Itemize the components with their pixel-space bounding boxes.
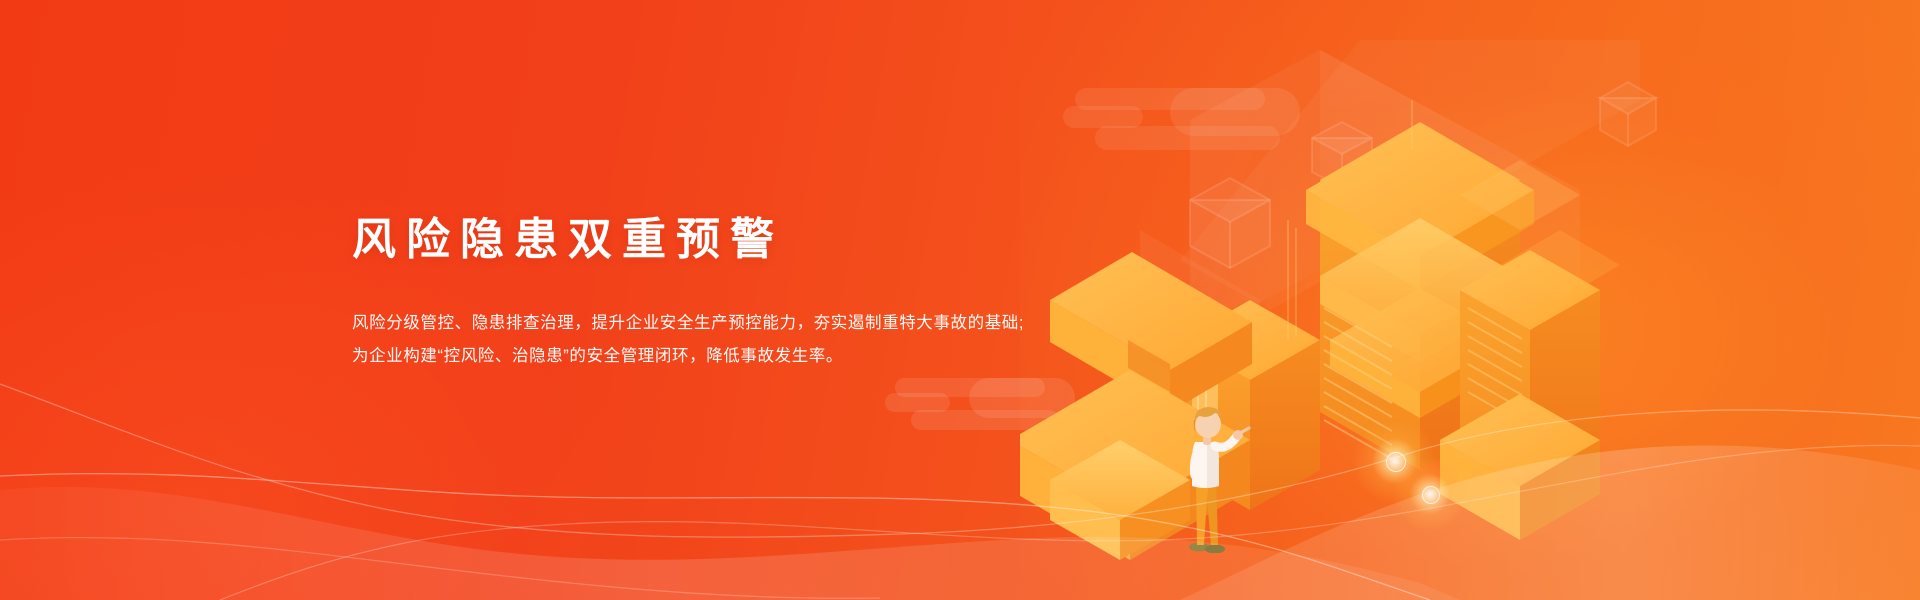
wave-line-2 (0, 384, 1920, 537)
hex-cube-decorations (1130, 90, 1460, 320)
wave-line-3 (220, 445, 1920, 600)
cloud-bar (911, 410, 1059, 430)
accent-lines (1288, 100, 1412, 340)
right-tower (1460, 250, 1600, 510)
floating-plates (1460, 160, 1620, 300)
hero-banner: 风险隐患双重预警 风险分级管控、隐患排查治理，提升企业安全生产预控能力，夯实遏制… (0, 0, 1920, 600)
shirt (1192, 442, 1219, 488)
wave-line-1 (0, 474, 1430, 600)
cloud-bar (1063, 106, 1143, 128)
subtitle-line-1: 风险分级管控、隐患排查治理，提升企业安全生产预控能力，夯实遏制重特大事故的基础; (352, 307, 1024, 340)
shoe-right (1205, 545, 1225, 554)
glow-spark-2 (1392, 456, 1468, 532)
cloud-motif-upper (1075, 88, 1300, 150)
cloud-motif-lower (895, 378, 1075, 430)
shelf-block (1050, 252, 1252, 412)
shoe-left (1189, 543, 1209, 552)
wave-fill-left (0, 487, 1460, 600)
finger (1240, 428, 1249, 433)
cloud-bar (1075, 88, 1265, 110)
right-diamond-block (1440, 394, 1600, 540)
glow-spark-1 (1352, 418, 1438, 504)
ghost-prisms (1140, 50, 1580, 480)
arm-left (1190, 448, 1200, 480)
lower-cube (1020, 370, 1250, 560)
head (1195, 410, 1221, 438)
neck (1203, 436, 1211, 445)
front-cube (1050, 440, 1190, 560)
glow-spark-ring-1 (1386, 452, 1406, 472)
cloud-bar (885, 393, 950, 412)
hair (1195, 407, 1222, 428)
cloud-bar (1170, 88, 1300, 136)
banner-text-block: 风险隐患双重预警 风险分级管控、隐患排查治理，提升企业安全生产预控能力，夯实遏制… (352, 214, 1024, 373)
cloud-bar (1095, 126, 1280, 150)
person-pointing-illustration (1182, 398, 1252, 553)
pants (1196, 482, 1218, 545)
background-glow-right (1020, 0, 1920, 600)
shirt-shade (1207, 442, 1219, 488)
hex-cube-decoration-right (1580, 62, 1700, 182)
wave-line-4 (0, 538, 880, 599)
decorative-waves (0, 340, 1920, 600)
pants-shade (1207, 482, 1218, 545)
hand (1233, 430, 1243, 440)
cloud-bar (895, 378, 1045, 397)
isometric-illustration (1020, 40, 1640, 560)
glow-spark-ring-2 (1422, 486, 1440, 504)
arm-right (1215, 436, 1237, 447)
cloud-bar (969, 378, 1075, 418)
page-title: 风险隐患双重预警 (352, 214, 1024, 267)
subtitle-line-2: 为企业构建“控风险、治隐患”的安全管理闭环，降低事故发生率。 (352, 340, 1024, 373)
wave-fill-right (1180, 445, 1920, 600)
hair-shade (1194, 420, 1197, 436)
left-tower (1180, 300, 1320, 510)
central-tower (1306, 122, 1534, 470)
